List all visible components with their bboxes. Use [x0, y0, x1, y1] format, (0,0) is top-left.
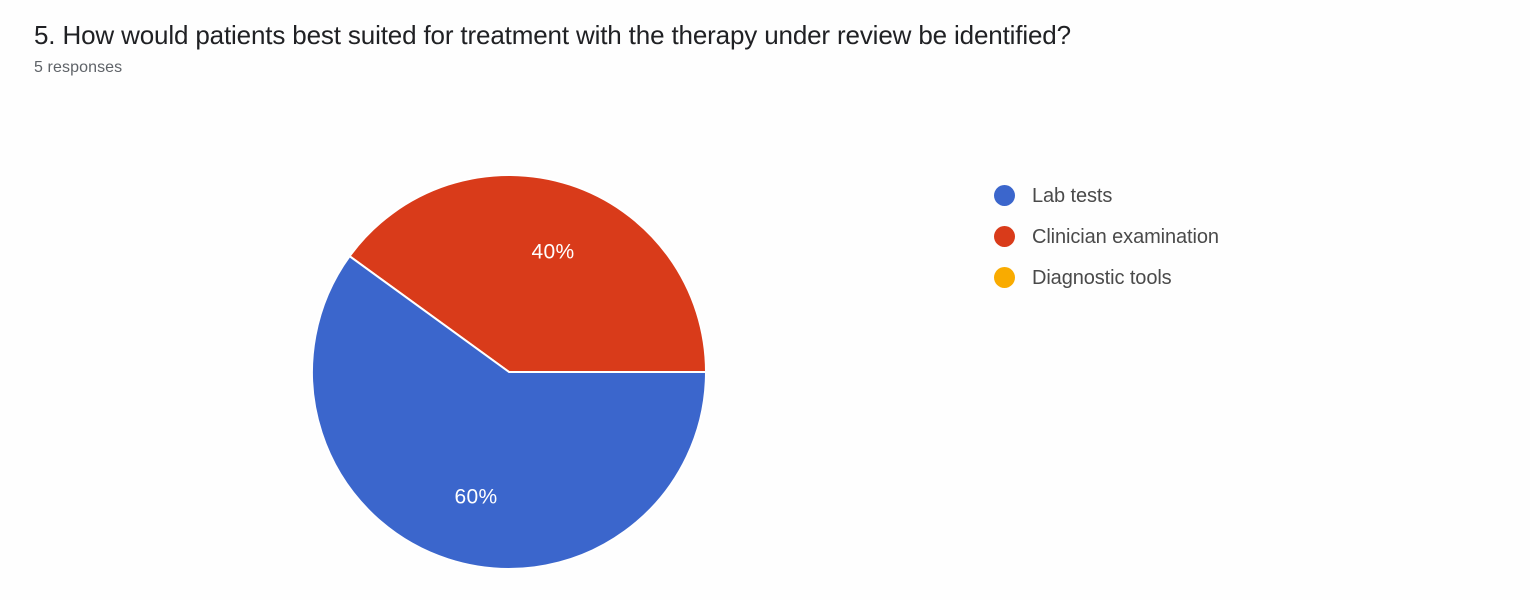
legend-item-diagnostic-tools[interactable]: Diagnostic tools: [994, 257, 1414, 298]
legend-swatch-clinician-examination-icon: [994, 226, 1015, 247]
pie-chart-container: 40% 60% Lab tests Clinician examination …: [0, 130, 1530, 600]
legend-swatch-lab-tests-icon: [994, 185, 1015, 206]
legend-item-clinician-examination[interactable]: Clinician examination: [994, 216, 1414, 257]
page-title: 5. How would patients best suited for tr…: [34, 18, 1494, 52]
pie-slice-label-clinician-examination: 40%: [532, 241, 575, 264]
legend-swatch-diagnostic-tools-icon: [994, 267, 1015, 288]
pie-slice-label-lab-tests: 60%: [455, 486, 498, 509]
pie-chart: 40% 60%: [312, 175, 706, 569]
response-count-label: 5 responses: [34, 58, 1494, 78]
pie-chart-svg: 40% 60%: [312, 175, 706, 569]
legend-label-lab-tests: Lab tests: [1032, 184, 1112, 208]
legend-label-diagnostic-tools: Diagnostic tools: [1032, 266, 1172, 290]
pie-legend: Lab tests Clinician examination Diagnost…: [994, 175, 1414, 298]
legend-label-clinician-examination: Clinician examination: [1032, 225, 1219, 249]
question-header: 5. How would patients best suited for tr…: [34, 18, 1494, 78]
legend-item-lab-tests[interactable]: Lab tests: [994, 175, 1414, 216]
